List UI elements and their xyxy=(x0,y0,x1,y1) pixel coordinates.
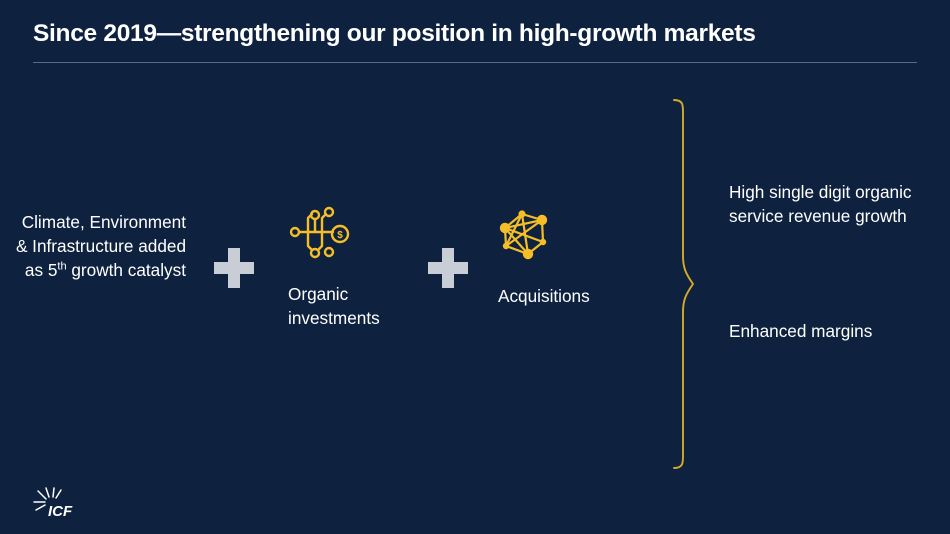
page-title: Since 2019—strengthening our position in… xyxy=(33,20,913,48)
catalyst-text-tail: growth catalyst xyxy=(67,260,186,280)
title-divider xyxy=(33,62,917,63)
acquisitions-label: Acquisitions xyxy=(498,284,668,308)
plus-icon-1-vertical xyxy=(228,248,240,288)
catalyst-text-block: Climate, Environment & Infrastructure ad… xyxy=(14,210,186,282)
outcome-revenue-growth: High single digit organic service revenu… xyxy=(729,180,929,228)
svg-text:ICF: ICF xyxy=(48,503,73,520)
icf-starburst-logo: ICF xyxy=(31,487,77,525)
plus-icon-1 xyxy=(214,248,254,288)
growth-equation: Climate, Environment & Infrastructure ad… xyxy=(0,196,650,356)
network-nodes-icon xyxy=(498,208,550,260)
outcome-enhanced-margins: Enhanced margins xyxy=(729,319,929,343)
circuit-dollar-icon: $ xyxy=(288,204,350,260)
svg-text:$: $ xyxy=(337,230,343,241)
organic-investments-label: Organic investments xyxy=(288,282,418,330)
plus-icon-2 xyxy=(428,248,468,288)
slide-canvas: Since 2019—strengthening our position in… xyxy=(0,0,950,534)
curly-brace-icon xyxy=(662,96,698,472)
catalyst-ordinal-suffix: th xyxy=(57,260,66,272)
plus-icon-2-vertical xyxy=(442,248,454,288)
